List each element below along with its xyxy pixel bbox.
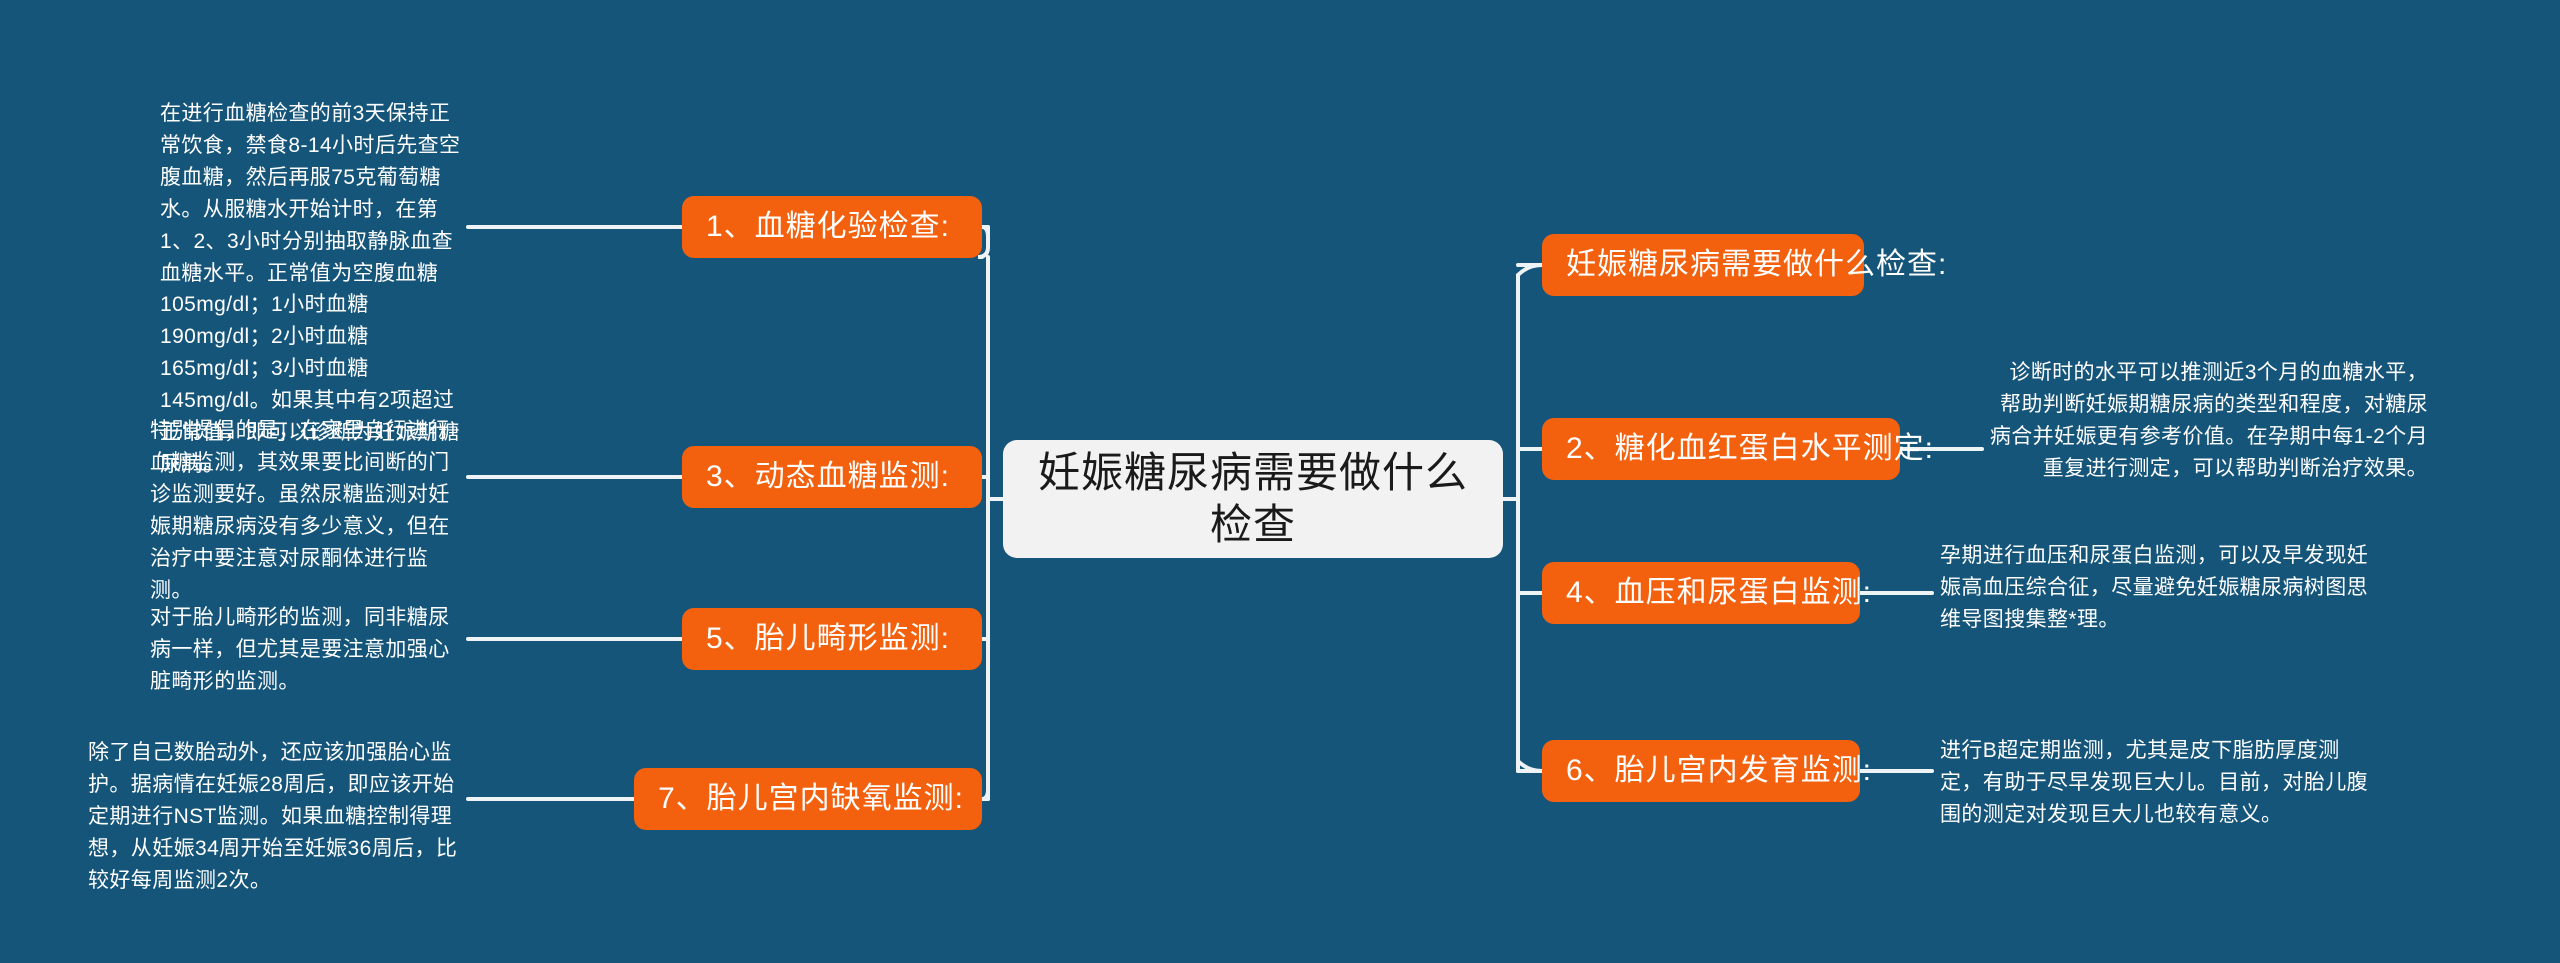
topic-node-left-3[interactable]: 3、动态血糖监测:: [682, 446, 982, 508]
note-right-6: 进行B超定期监测，尤其是皮下脂肪厚度测定，有助于尽早发现巨大儿。目前，对胎儿腹围…: [1940, 735, 2370, 831]
edge-right-top-curve: [1518, 265, 1542, 275]
topic-label: 4、血压和尿蛋白监测:: [1566, 576, 1872, 611]
topic-node-right-0[interactable]: 妊娠糖尿病需要做什么检查:: [1542, 234, 1864, 296]
topic-label: 1、血糖化验检查:: [706, 210, 950, 245]
root-node[interactable]: 妊娠糖尿病需要做什么检查: [1003, 440, 1503, 558]
topic-node-left-5[interactable]: 5、胎儿畸形监测:: [682, 608, 982, 670]
topic-label: 7、胎儿宫内缺氧监测:: [658, 782, 964, 817]
topic-label: 妊娠糖尿病需要做什么检查:: [1566, 248, 1947, 283]
topic-label: 3、动态血糖监测:: [706, 460, 950, 495]
note-right-2: 诊断时的水平可以推测近3个月的血糖水平，帮助判断妊娠期糖尿病的类型和程度，对糖尿…: [1988, 357, 2428, 485]
edge-left-bottom-curve: [982, 789, 988, 799]
note-left-3: 特别提倡的是，在家里自行进行血糖监测，其效果要比间断的门诊监测要好。虽然尿糖监测…: [150, 415, 468, 606]
edge-right-bottom-curve: [1518, 761, 1542, 771]
edge-left-top-curve: [982, 227, 988, 237]
mindmap-canvas: 妊娠糖尿病需要做什么检查 1、血糖化验检查: 3、动态血糖监测: 5、胎儿畸形监…: [0, 0, 2560, 963]
topic-label: 2、糖化血红蛋白水平测定:: [1566, 432, 1934, 467]
topic-node-left-7[interactable]: 7、胎儿宫内缺氧监测:: [634, 768, 982, 830]
note-left-5: 对于胎儿畸形的监测，同非糖尿病一样，但尤其是要注意加强心脏畸形的监测。: [150, 602, 468, 698]
topic-node-right-4[interactable]: 4、血压和尿蛋白监测:: [1542, 562, 1860, 624]
topic-label: 5、胎儿畸形监测:: [706, 622, 950, 657]
topic-node-left-1[interactable]: 1、血糖化验检查:: [682, 196, 982, 258]
topic-node-right-2[interactable]: 2、糖化血红蛋白水平测定:: [1542, 418, 1900, 480]
note-right-4: 孕期进行血压和尿蛋白监测，可以及早发现妊娠高血压综合征，尽量避免妊娠糖尿病树图思…: [1940, 540, 2380, 636]
root-title: 妊娠糖尿病需要做什么检查: [1029, 447, 1477, 552]
topic-node-right-6[interactable]: 6、胎儿宫内发育监测:: [1542, 740, 1860, 802]
note-left-7: 除了自己数胎动外，还应该加强胎心监护。据病情在妊娠28周后，即应该开始定期进行N…: [88, 737, 468, 897]
topic-label: 6、胎儿宫内发育监测:: [1566, 754, 1872, 789]
